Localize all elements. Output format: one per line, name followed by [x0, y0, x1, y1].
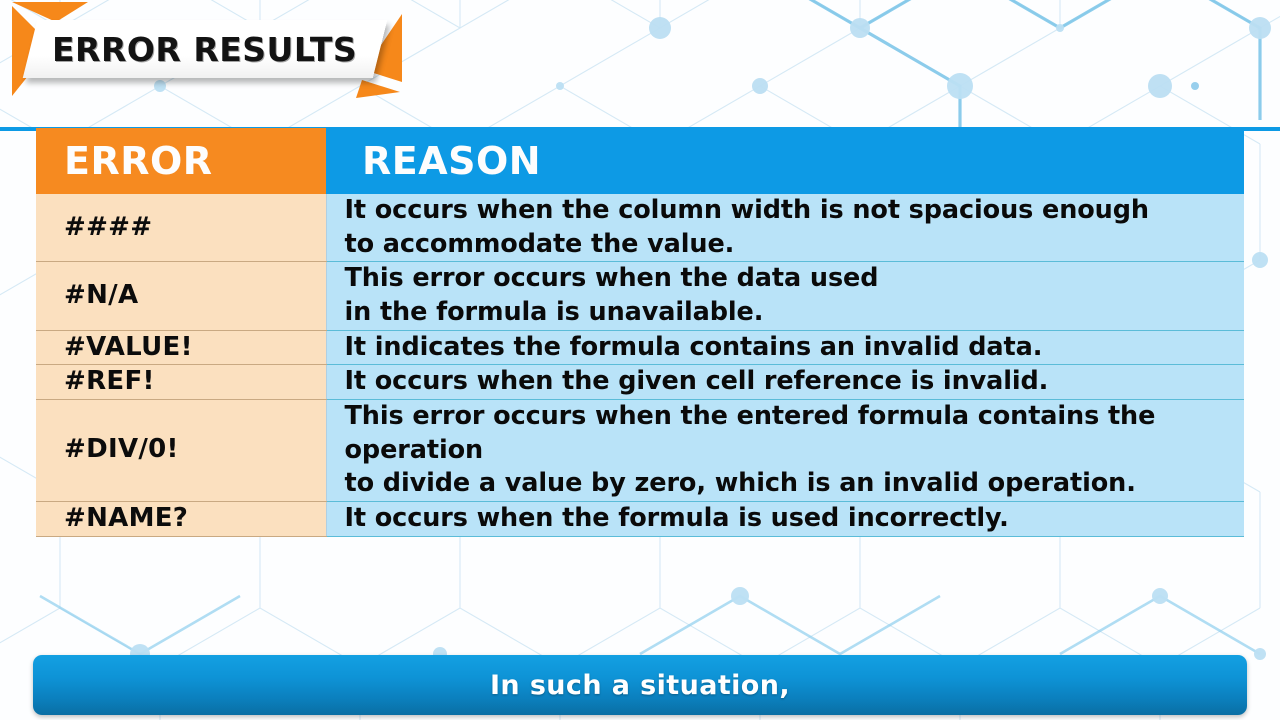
cell-reason-text: It occurs when the column width is not s… — [326, 194, 1244, 262]
column-header-error-label: ERROR — [64, 139, 213, 183]
caption-bar: In such a situation, — [33, 655, 1247, 715]
cell-reason-text: It indicates the formula contains an inv… — [326, 330, 1244, 365]
error-code-label: #REF! — [64, 366, 155, 396]
reason-text-block: It occurs when the formula is used incor… — [345, 502, 1235, 536]
table-row: #DIV/0!This error occurs when the entere… — [36, 399, 1244, 501]
error-code-label: #N/A — [64, 280, 138, 310]
reason-text-line: It indicates the formula contains an inv… — [345, 331, 1235, 365]
title-banner: ERROR RESULTS — [0, 0, 420, 112]
error-code-label: #DIV/0! — [64, 434, 179, 464]
error-code-label: #VALUE! — [64, 332, 193, 362]
cell-error-code: #REF! — [36, 365, 326, 400]
cell-reason-text: It occurs when the formula is used incor… — [326, 501, 1244, 536]
reason-text-line: to divide a value by zero, which is an i… — [345, 467, 1235, 501]
slide-canvas: NEX TECH Learning Pvt. Ltd ERROR RESULTS… — [0, 0, 1280, 720]
reason-text-line: This error occurs when the entered formu… — [345, 400, 1235, 467]
column-header-error: ERROR — [36, 128, 326, 194]
table-body: ####It occurs when the column width is n… — [36, 194, 1244, 536]
cell-error-code: #DIV/0! — [36, 399, 326, 501]
reason-text-block: This error occurs when the data usedin t… — [345, 262, 1235, 329]
cell-reason-text: It occurs when the given cell reference … — [326, 365, 1244, 400]
table-row: #NAME?It occurs when the formula is used… — [36, 501, 1244, 536]
reason-text-block: It occurs when the given cell reference … — [345, 365, 1235, 399]
page-title: ERROR RESULTS — [52, 24, 382, 74]
cell-error-code: #NAME? — [36, 501, 326, 536]
reason-text-line: This error occurs when the data used — [345, 262, 1235, 296]
column-header-reason: REASON — [326, 128, 1244, 194]
reason-text-line: It occurs when the given cell reference … — [345, 365, 1235, 399]
reason-text-line: to accommodate the value. — [345, 228, 1235, 262]
reason-text-block: It indicates the formula contains an inv… — [345, 331, 1235, 365]
caption-text: In such a situation, — [490, 670, 790, 701]
table-row: ####It occurs when the column width is n… — [36, 194, 1244, 262]
table-row: #VALUE!It indicates the formula contains… — [36, 330, 1244, 365]
cell-error-code: #VALUE! — [36, 330, 326, 365]
table-row: #REF!It occurs when the given cell refer… — [36, 365, 1244, 400]
column-header-reason-label: REASON — [362, 139, 541, 183]
table-header-row: ERROR REASON — [36, 128, 1244, 194]
reason-text-line: in the formula is unavailable. — [345, 296, 1235, 330]
reason-text-block: It occurs when the column width is not s… — [345, 194, 1235, 261]
reason-text-line: It occurs when the column width is not s… — [345, 194, 1235, 228]
error-results-table: ERROR REASON ####It occurs when the colu… — [36, 128, 1244, 537]
reason-text-block: This error occurs when the entered formu… — [345, 400, 1235, 501]
table-row: #N/AThis error occurs when the data used… — [36, 262, 1244, 330]
reason-text-line: It occurs when the formula is used incor… — [345, 502, 1235, 536]
error-code-label: #### — [64, 212, 152, 242]
cell-error-code: #N/A — [36, 262, 326, 330]
cell-reason-text: This error occurs when the entered formu… — [326, 399, 1244, 501]
error-code-label: #NAME? — [64, 503, 188, 533]
cell-error-code: #### — [36, 194, 326, 262]
cell-reason-text: This error occurs when the data usedin t… — [326, 262, 1244, 330]
